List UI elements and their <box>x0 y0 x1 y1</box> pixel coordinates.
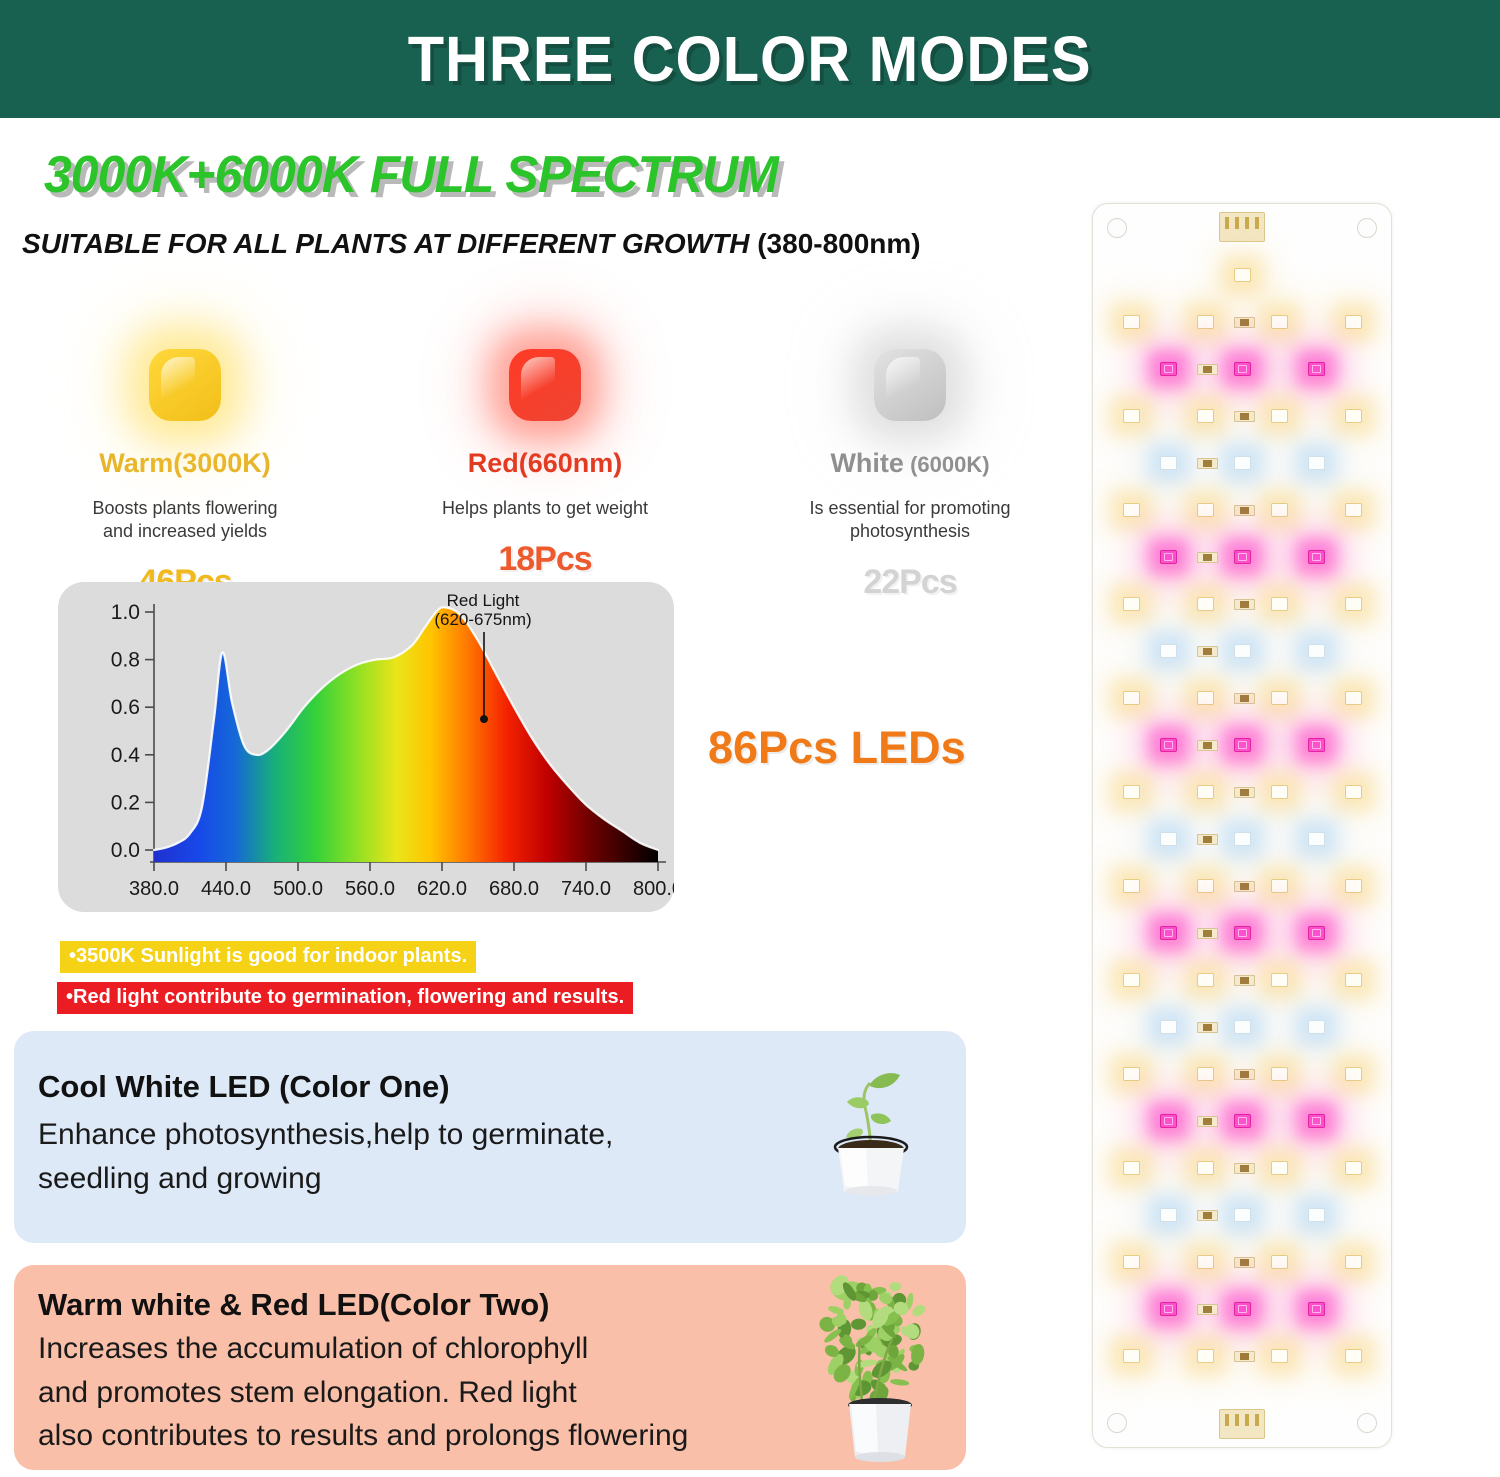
white-desc-line-2: photosynthesis <box>745 520 1075 543</box>
led-emitter-warm <box>1197 1067 1214 1081</box>
svg-text:0.2: 0.2 <box>111 791 140 814</box>
resistor-component <box>1197 458 1218 469</box>
mounting-hole-top-left <box>1107 218 1127 238</box>
svg-text:560.0: 560.0 <box>345 878 395 900</box>
resistor-component <box>1197 1210 1218 1221</box>
led-emitter-warm <box>1271 409 1288 423</box>
resistor-component <box>1234 1257 1255 1268</box>
led-emitter-warm <box>1197 409 1214 423</box>
wavelength-range: (380-800nm) <box>757 228 920 259</box>
svg-text:800.0: 800.0 <box>633 878 674 900</box>
led-emitter-red <box>1308 1114 1325 1128</box>
led-emitter-warm <box>1197 973 1214 987</box>
spectrum-headline: 3000K+6000K FULL SPECTRUM <box>44 145 778 205</box>
led-quantum-board <box>1092 203 1392 1448</box>
highlight-sunlight: •3500K Sunlight is good for indoor plant… <box>60 941 476 973</box>
warm-chip-wrap <box>20 330 350 440</box>
panel-warm-red-line-1: Increases the accumulation of chlorophyl… <box>38 1327 688 1371</box>
svg-text:0.0: 0.0 <box>111 839 140 862</box>
total-led-count: 86Pcs LEDs <box>708 722 966 774</box>
led-emitter-cool <box>1234 832 1251 846</box>
led-emitter-warm <box>1234 268 1251 282</box>
led-emitter-warm <box>1345 503 1362 517</box>
connector-top-icon <box>1219 212 1265 242</box>
led-emitter-red <box>1234 738 1251 752</box>
led-emitter-warm <box>1123 879 1140 893</box>
led-emitter-warm <box>1123 1255 1140 1269</box>
panel-cool-white-line-1: Enhance photosynthesis,help to germinate… <box>38 1113 613 1157</box>
led-emitter-cool <box>1234 1020 1251 1034</box>
subheadline-text: SUITABLE FOR ALL PLANTS AT DIFFERENT GRO… <box>22 228 749 259</box>
led-emitter-red <box>1308 738 1325 752</box>
resistor-component <box>1234 975 1255 986</box>
color-modes-row: Warm(3000K) Boosts plants flowering and … <box>20 330 1030 580</box>
svg-text:680.0: 680.0 <box>489 878 539 900</box>
led-emitter-red <box>1160 926 1177 940</box>
resistor-component <box>1234 317 1255 328</box>
leafy-plant-image <box>804 1271 944 1466</box>
led-emitter-warm <box>1123 1067 1140 1081</box>
warm-desc-line-2: and increased yields <box>20 520 350 543</box>
color-mode-red: Red(660nm) Helps plants to get weight 18… <box>380 330 710 579</box>
resistor-component <box>1234 1163 1255 1174</box>
red-mode-title: Red(660nm) <box>380 448 710 479</box>
resistor-component <box>1197 1116 1218 1127</box>
led-emitter-warm <box>1345 597 1362 611</box>
connector-top-pins <box>1225 217 1259 229</box>
led-emitter-warm <box>1345 785 1362 799</box>
led-emitter-red <box>1160 1302 1177 1316</box>
led-emitter-red <box>1234 362 1251 376</box>
led-emitter-warm <box>1197 503 1214 517</box>
led-emitter-red <box>1234 550 1251 564</box>
resistor-component <box>1197 552 1218 563</box>
led-emitter-cool <box>1308 832 1325 846</box>
led-emitter-warm <box>1271 1255 1288 1269</box>
led-emitter-warm <box>1345 1255 1362 1269</box>
led-emitter-cool <box>1234 1208 1251 1222</box>
led-emitter-cool <box>1160 456 1177 470</box>
led-emitter-warm <box>1197 1255 1214 1269</box>
white-led-count: 22Pcs <box>745 563 1075 602</box>
connector-bottom-pins <box>1225 1414 1259 1426</box>
mounting-hole-top-right <box>1357 218 1377 238</box>
resistor-component <box>1234 599 1255 610</box>
led-emitter-warm <box>1123 315 1140 329</box>
led-emitter-warm <box>1271 879 1288 893</box>
led-emitter-red <box>1308 1302 1325 1316</box>
led-emitter-red <box>1234 926 1251 940</box>
white-mode-title: White (6000K) <box>745 448 1075 479</box>
led-emitter-warm <box>1197 785 1214 799</box>
red-led-chip-icon <box>509 349 581 421</box>
panel-cool-white-line-2: seedling and growing <box>38 1157 613 1201</box>
led-emitter-red <box>1160 362 1177 376</box>
resistor-component <box>1197 740 1218 751</box>
panel-warm-red-body: Increases the accumulation of chlorophyl… <box>38 1327 688 1458</box>
led-emitter-warm <box>1271 1161 1288 1175</box>
led-emitter-warm <box>1345 1349 1362 1363</box>
led-emitter-warm <box>1197 879 1214 893</box>
led-emitter-red <box>1308 362 1325 376</box>
led-emitter-red <box>1160 738 1177 752</box>
led-emitter-cool <box>1160 1208 1177 1222</box>
svg-text:0.8: 0.8 <box>111 649 140 672</box>
led-emitter-warm <box>1345 973 1362 987</box>
led-emitter-warm <box>1197 691 1214 705</box>
red-led-count: 18Pcs <box>380 540 710 579</box>
white-desc-line-1: Is essential for promoting <box>745 497 1075 520</box>
led-emitter-warm <box>1271 1349 1288 1363</box>
led-emitter-warm <box>1123 1349 1140 1363</box>
panel-warm-red-line-3: also contributes to results and prolongs… <box>38 1414 688 1458</box>
resistor-component <box>1234 787 1255 798</box>
white-mode-title-main: White <box>830 448 904 478</box>
led-emitter-red <box>1160 1114 1177 1128</box>
led-emitter-warm <box>1123 409 1140 423</box>
warm-mode-title: Warm(3000K) <box>20 448 350 479</box>
svg-text:0.6: 0.6 <box>111 696 140 719</box>
svg-text:1.0: 1.0 <box>111 601 140 624</box>
led-emitter-cool <box>1308 1208 1325 1222</box>
led-emitter-warm <box>1123 503 1140 517</box>
led-emitter-warm <box>1345 409 1362 423</box>
panel-warm-red-led: Warm white & Red LED(Color Two) Increase… <box>14 1265 966 1470</box>
led-emitter-warm <box>1271 1067 1288 1081</box>
resistor-component <box>1234 693 1255 704</box>
led-emitter-warm <box>1345 1067 1362 1081</box>
svg-text:440.0: 440.0 <box>201 878 251 900</box>
led-emitter-warm <box>1197 1161 1214 1175</box>
resistor-component <box>1197 646 1218 657</box>
led-emitter-warm <box>1197 315 1214 329</box>
spectrum-chart: Red Light(620-675nm) 0.00.20.40.60.81.03… <box>58 582 674 912</box>
led-emitter-warm <box>1123 785 1140 799</box>
led-emitter-warm <box>1271 973 1288 987</box>
panel-cool-white-led: Cool White LED (Color One) Enhance photo… <box>14 1031 966 1243</box>
led-emitter-cool <box>1160 644 1177 658</box>
led-emitter-red <box>1234 1114 1251 1128</box>
svg-text:740.0: 740.0 <box>561 878 611 900</box>
led-emitter-cool <box>1234 644 1251 658</box>
red-chip-wrap <box>380 330 710 440</box>
red-desc-line-1: Helps plants to get weight <box>380 497 710 520</box>
led-emitter-warm <box>1123 597 1140 611</box>
warm-mode-desc: Boosts plants flowering and increased yi… <box>20 497 350 543</box>
mounting-hole-bottom-right <box>1357 1413 1377 1433</box>
led-emitter-warm <box>1123 691 1140 705</box>
panel-cool-white-title: Cool White LED (Color One) <box>38 1069 450 1105</box>
red-mode-desc: Helps plants to get weight <box>380 497 710 520</box>
resistor-component <box>1234 1069 1255 1080</box>
connector-bottom-icon <box>1219 1409 1265 1439</box>
svg-text:(620-675nm): (620-675nm) <box>434 610 531 629</box>
chart-curve <box>154 607 658 862</box>
led-emitter-red <box>1234 1302 1251 1316</box>
led-emitter-cool <box>1308 1020 1325 1034</box>
led-emitter-warm <box>1345 879 1362 893</box>
resistor-component <box>1197 834 1218 845</box>
page-title: THREE COLOR MODES <box>408 22 1092 96</box>
led-emitter-warm <box>1271 503 1288 517</box>
svg-text:380.0: 380.0 <box>129 878 179 900</box>
color-mode-warm: Warm(3000K) Boosts plants flowering and … <box>20 330 350 602</box>
highlight-red-light: •Red light contribute to germination, fl… <box>57 982 633 1014</box>
led-emitter-warm <box>1197 597 1214 611</box>
svg-text:0.4: 0.4 <box>111 744 141 767</box>
header-banner: THREE COLOR MODES <box>0 0 1500 118</box>
panel-warm-red-title: Warm white & Red LED(Color Two) <box>38 1287 550 1323</box>
spectrum-chart-card: Red Light(620-675nm) 0.00.20.40.60.81.03… <box>58 582 674 912</box>
seedling-plant-image <box>816 1053 926 1198</box>
led-emitter-warm <box>1271 785 1288 799</box>
resistor-component <box>1234 505 1255 516</box>
white-chip-wrap <box>745 330 1075 440</box>
led-emitter-warm <box>1271 691 1288 705</box>
white-led-chip-icon <box>874 349 946 421</box>
led-emitter-cool <box>1308 644 1325 658</box>
color-mode-white: White (6000K) Is essential for promoting… <box>745 330 1075 602</box>
led-emitter-warm <box>1123 1161 1140 1175</box>
mounting-hole-bottom-left <box>1107 1413 1127 1433</box>
panel-cool-white-body: Enhance photosynthesis,help to germinate… <box>38 1113 613 1200</box>
panel-warm-red-line-2: and promotes stem elongation. Red light <box>38 1371 688 1415</box>
led-emitter-warm <box>1271 597 1288 611</box>
led-emitter-red <box>1160 550 1177 564</box>
led-emitter-red <box>1308 926 1325 940</box>
led-emitter-cool <box>1234 456 1251 470</box>
led-emitter-warm <box>1345 315 1362 329</box>
resistor-component <box>1197 364 1218 375</box>
led-emitter-warm <box>1345 691 1362 705</box>
resistor-component <box>1234 1351 1255 1362</box>
spectrum-subheadline: SUITABLE FOR ALL PLANTS AT DIFFERENT GRO… <box>22 228 921 260</box>
resistor-component <box>1234 411 1255 422</box>
led-emitter-red <box>1308 550 1325 564</box>
warm-desc-line-1: Boosts plants flowering <box>20 497 350 520</box>
white-mode-desc: Is essential for promoting photosynthesi… <box>745 497 1075 543</box>
resistor-component <box>1197 1022 1218 1033</box>
led-emitter-cool <box>1308 456 1325 470</box>
led-emitter-warm <box>1123 973 1140 987</box>
resistor-component <box>1197 928 1218 939</box>
svg-text:Red Light: Red Light <box>447 591 520 610</box>
resistor-component <box>1197 1304 1218 1315</box>
led-board-region <box>1092 203 1392 1448</box>
white-mode-title-sub: (6000K) <box>904 452 990 477</box>
led-emitter-warm <box>1197 1349 1214 1363</box>
warm-led-chip-icon <box>149 349 221 421</box>
svg-text:500.0: 500.0 <box>273 878 323 900</box>
led-emitter-warm <box>1271 315 1288 329</box>
svg-text:620.0: 620.0 <box>417 878 467 900</box>
led-emitter-warm <box>1345 1161 1362 1175</box>
resistor-component <box>1234 881 1255 892</box>
led-emitter-cool <box>1160 832 1177 846</box>
led-emitter-cool <box>1160 1020 1177 1034</box>
